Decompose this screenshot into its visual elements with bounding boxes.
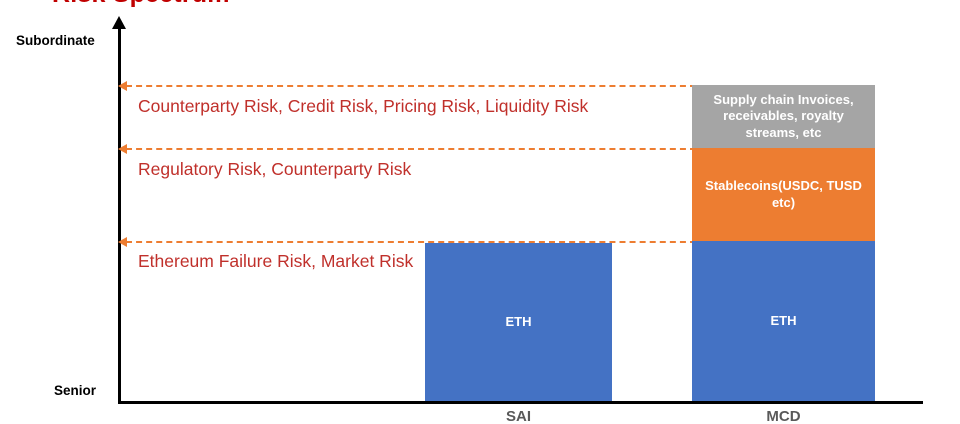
bar-segment-mcd-eth: ETH: [692, 241, 875, 401]
category-label-sai: SAI: [425, 408, 612, 424]
tier-separator-line-2: [126, 148, 696, 150]
risk-spectrum-chart: Risk Spectrum Subordinate Senior Counter…: [0, 0, 960, 424]
risk-annotation-stablecoins: Regulatory Risk, Counterparty Risk: [138, 158, 678, 182]
y-axis-top-label: Subordinate: [16, 33, 95, 48]
bar-segment-sai-eth: ETH: [425, 243, 612, 401]
tier-separator-line-1: [126, 85, 696, 87]
bar-segment-mcd-rwa: Supply chain Invoices, receivables, roya…: [692, 85, 875, 148]
y-axis-bottom-label: Senior: [54, 383, 96, 398]
bar-segment-mcd-stablecoins: Stablecoins(USDC, TUSD etc): [692, 148, 875, 241]
x-axis-line: [118, 401, 923, 404]
risk-annotation-eth: Ethereum Failure Risk, Market Risk: [138, 250, 423, 274]
risk-annotation-rwa: Counterparty Risk, Credit Risk, Pricing …: [138, 95, 678, 119]
category-label-mcd: MCD: [692, 408, 875, 424]
page-title: Risk Spectrum: [52, 0, 230, 9]
